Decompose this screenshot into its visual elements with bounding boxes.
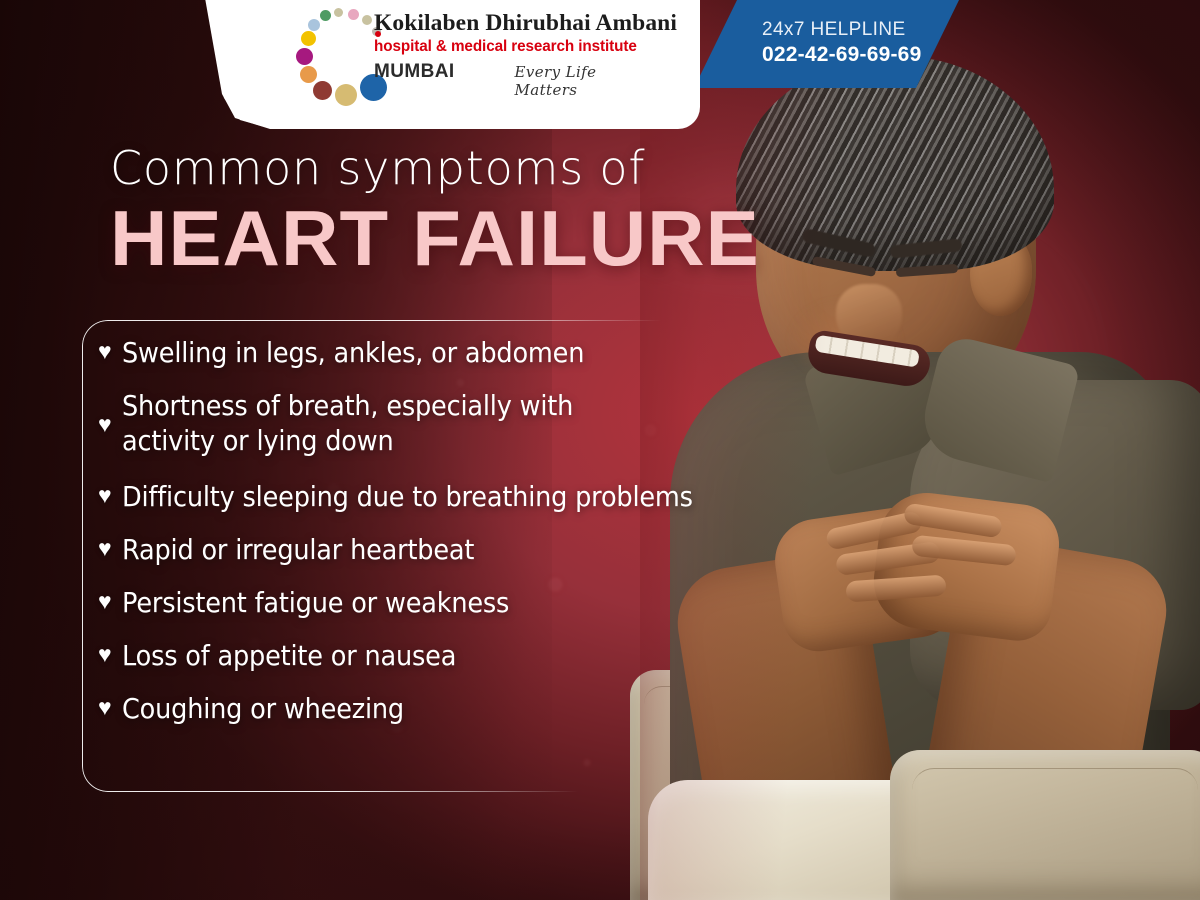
list-item-label: Swelling in legs, ankles, or abdomen (122, 336, 584, 371)
list-item: ♥ Loss of appetite or nausea (98, 639, 778, 674)
page-title: Common symptoms of HEART FAILURE (110, 144, 747, 277)
helpline-banner[interactable]: 24x7 HELPLINE 022-42-69-69-69 (694, 0, 960, 88)
heart-icon: ♥ (98, 409, 112, 440)
logo-tagline: Every Life Matters (515, 63, 657, 99)
logo-text-block: Kokilaben Dhirubhai Ambani hospital & me… (374, 10, 656, 99)
heart-icon: ♥ (98, 692, 112, 723)
list-item: ♥ Coughing or wheezing (98, 692, 778, 727)
hospital-logo[interactable]: Kokilaben Dhirubhai Ambani hospital & me… (296, 6, 656, 116)
headline-main: HEART FAILURE (110, 199, 760, 277)
helpline-label: 24x7 HELPLINE (762, 18, 960, 42)
heart-icon: ♥ (98, 336, 112, 367)
logo-subtitle: hospital & medical research institute (374, 38, 652, 56)
list-item: ♥ Persistent fatigue or weakness (98, 586, 778, 621)
heart-failure-infographic: 24x7 HELPLINE 022-42-69-69-69 Kokilaben … (0, 0, 1200, 900)
headline-subtitle: Common symptoms of (110, 144, 747, 193)
heart-icon: ♥ (98, 586, 112, 617)
list-item: ♥ Shortness of breath, especially with a… (98, 389, 778, 459)
list-item-label: Loss of appetite or nausea (122, 639, 456, 674)
logo-hospital-name: Kokilaben Dhirubhai Ambani (374, 10, 656, 37)
list-item-label: Persistent fatigue or weakness (122, 586, 509, 621)
list-item: ♥ Difficulty sleeping due to breathing p… (98, 480, 778, 515)
heart-icon: ♥ (98, 480, 112, 511)
list-item-label: Coughing or wheezing (122, 692, 404, 727)
logo-city: MUMBAI (374, 61, 455, 83)
list-item: ♥ Swelling in legs, ankles, or abdomen (98, 336, 778, 371)
list-item: ♥ Rapid or irregular heartbeat (98, 533, 778, 568)
sofa-armrest (890, 750, 1200, 900)
list-item-label: Difficulty sleeping due to breathing pro… (122, 480, 693, 515)
symptoms-list: ♥ Swelling in legs, ankles, or abdomen ♥… (98, 336, 778, 746)
heart-icon: ♥ (98, 533, 112, 564)
trousers (648, 780, 928, 900)
heart-icon: ♥ (98, 639, 112, 670)
list-item-label: Rapid or irregular heartbeat (122, 533, 474, 568)
list-item-label: Shortness of breath, especially with act… (122, 389, 573, 459)
